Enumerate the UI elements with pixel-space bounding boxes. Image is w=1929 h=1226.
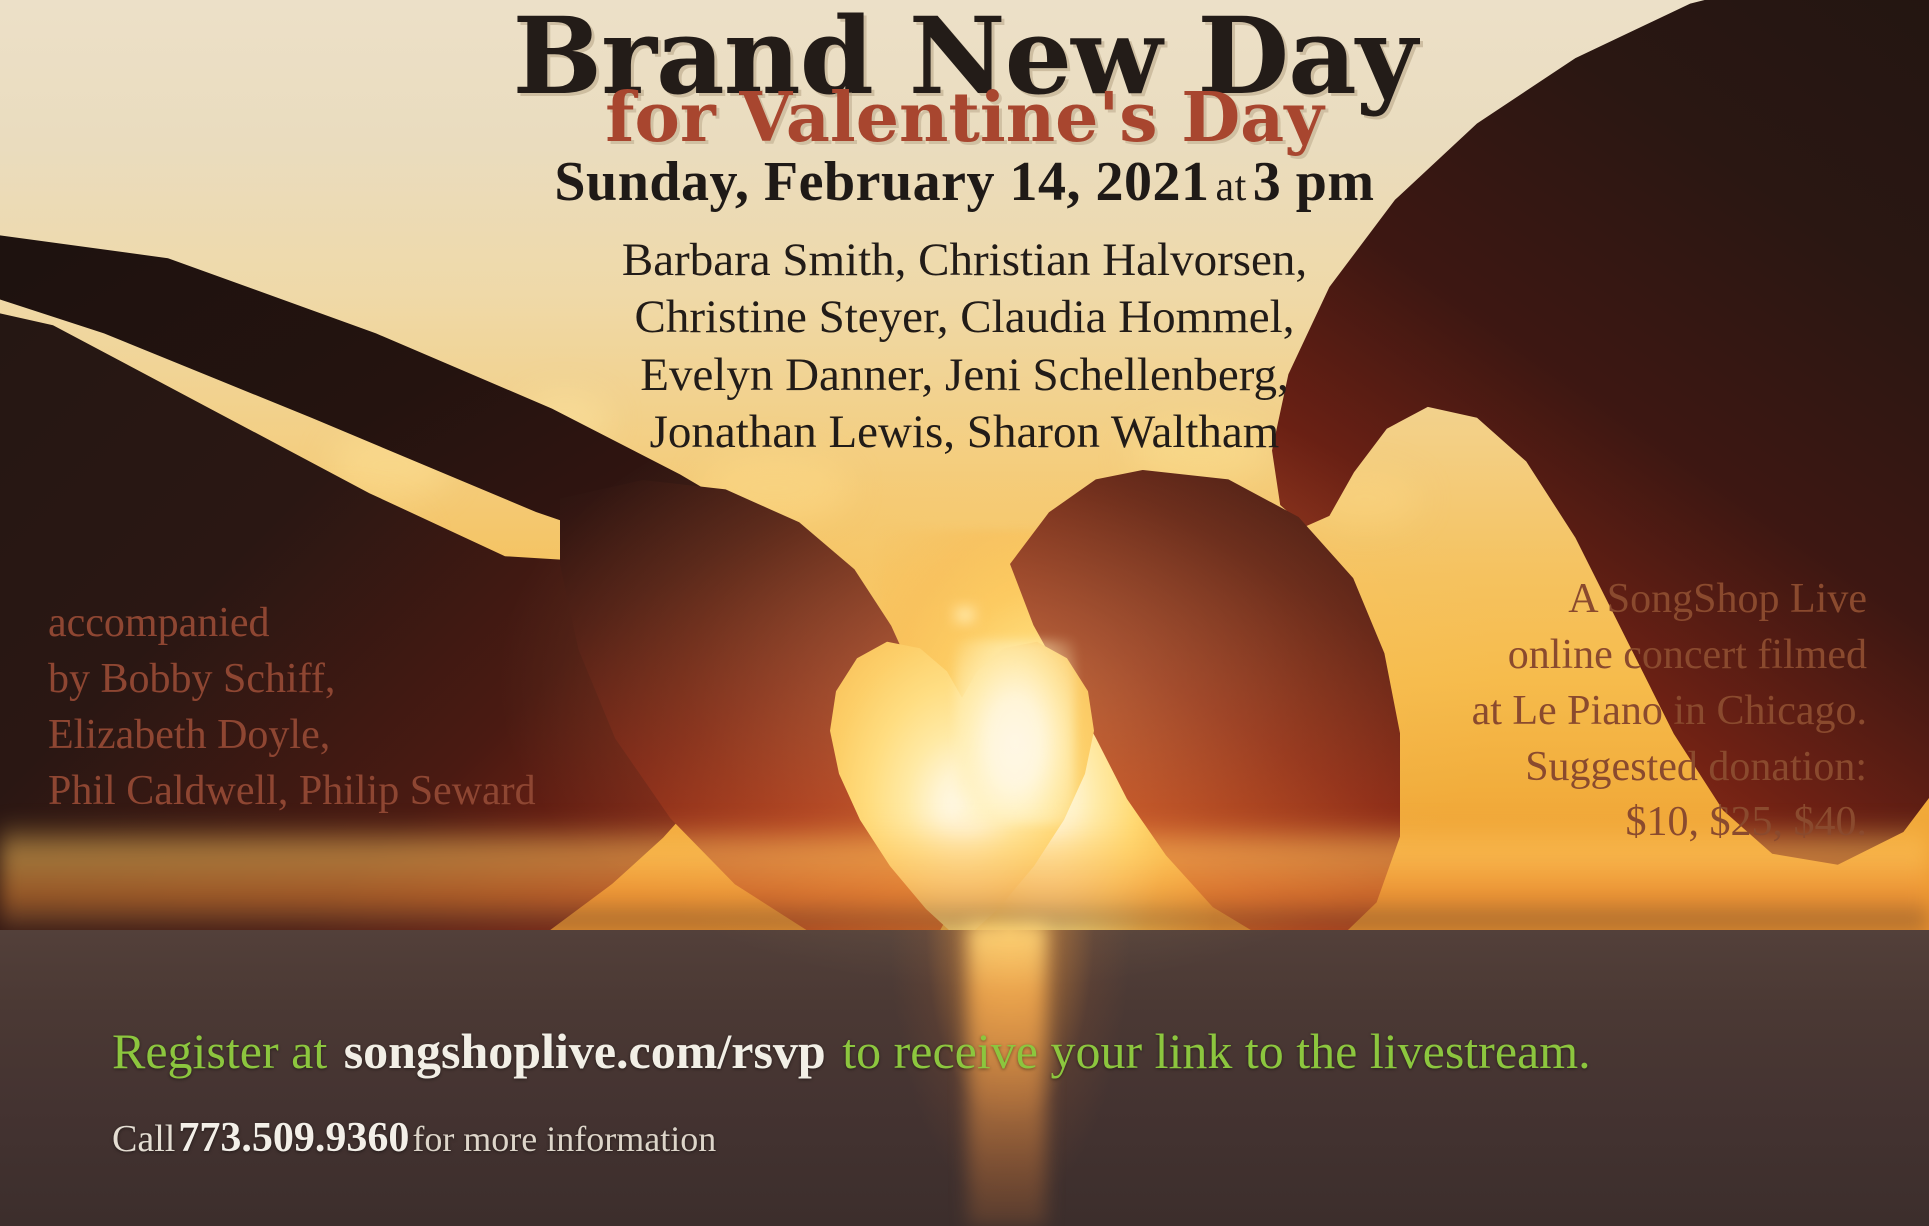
poster-canvas: Brand New Day for Valentine's Day Sunday… bbox=[0, 0, 1929, 1226]
performer-line: Jonathan Lewis, Sharon Waltham bbox=[0, 404, 1929, 461]
performer-line: Christine Steyer, Claudia Hommel, bbox=[0, 289, 1929, 346]
poster-subtitle: for Valentine's Day bbox=[0, 78, 1929, 158]
event-time: 3 pm bbox=[1253, 151, 1375, 213]
concert-info-line: at Le Piano in Chicago. bbox=[1472, 684, 1867, 740]
event-dateline: Sunday, February 14, 2021at3 pm bbox=[0, 150, 1929, 214]
call-prefix: Call bbox=[112, 1118, 175, 1160]
register-prefix: Register at bbox=[112, 1023, 327, 1079]
register-url[interactable]: songshoplive.com/rsvp bbox=[340, 1023, 830, 1079]
event-date: Sunday, February 14, 2021 bbox=[554, 151, 1209, 213]
accompanist-line: accompanied bbox=[48, 596, 536, 652]
performer-line: Barbara Smith, Christian Halvorsen, bbox=[0, 232, 1929, 289]
register-line: Register at songshoplive.com/rsvp to rec… bbox=[112, 1022, 1591, 1080]
concert-info-line: A SongShop Live bbox=[1472, 572, 1867, 628]
accompanists-block: accompanied by Bobby Schiff, Elizabeth D… bbox=[48, 596, 536, 819]
concert-info-line: Suggested donation: bbox=[1472, 740, 1867, 796]
call-suffix: for more information bbox=[412, 1119, 716, 1159]
accompanist-line: by Bobby Schiff, bbox=[48, 652, 536, 708]
concert-info-line: online concert filmed bbox=[1472, 628, 1867, 684]
contact-line: Call773.509.9360for more information bbox=[112, 1114, 716, 1162]
poster-text-layer: Brand New Day for Valentine's Day Sunday… bbox=[0, 0, 1929, 1226]
concert-info-block: A SongShop Live online concert filmed at… bbox=[1472, 572, 1867, 851]
performer-line: Evelyn Danner, Jeni Schellenberg, bbox=[0, 347, 1929, 404]
donation-amounts: $10, $25, $40. bbox=[1472, 795, 1867, 851]
performer-list: Barbara Smith, Christian Halvorsen, Chri… bbox=[0, 232, 1929, 461]
phone-number[interactable]: 773.509.9360 bbox=[175, 1115, 412, 1161]
accompanist-line: Phil Caldwell, Philip Seward bbox=[48, 764, 536, 820]
register-suffix: to receive your link to the livestream. bbox=[842, 1023, 1590, 1079]
at-label: at bbox=[1209, 164, 1252, 210]
accompanist-line: Elizabeth Doyle, bbox=[48, 708, 536, 764]
